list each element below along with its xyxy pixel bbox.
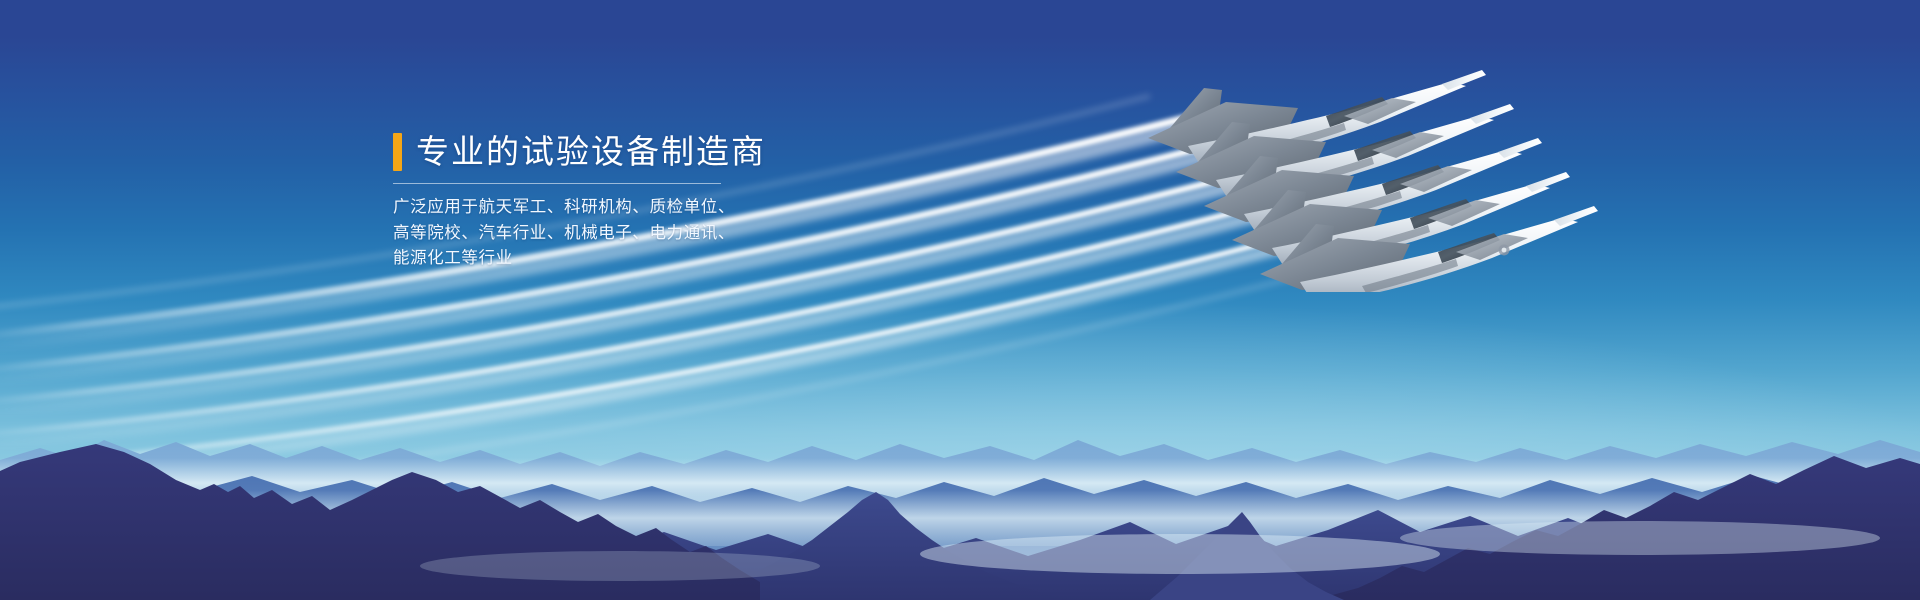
mist-band <box>0 458 1920 508</box>
sky-haze-glow <box>0 0 1920 600</box>
headline-row: 专业的试验设备制造商 <box>393 130 1013 174</box>
mountain-layer-near-mid <box>0 510 1920 600</box>
subtext-line: 能源化工等行业 <box>393 246 1013 272</box>
mountain-layer-near-left <box>0 444 800 600</box>
title-divider <box>393 183 721 184</box>
jet-contrail-streaks <box>0 0 1920 600</box>
mountain-layer-far <box>0 440 1920 600</box>
subtext-line: 广泛应用于航天军工、科研机构、质检单位、 <box>393 195 1013 221</box>
banner-copy: 专业的试验设备制造商 广泛应用于航天军工、科研机构、质检单位、 高等院校、汽车行… <box>393 130 1013 272</box>
layered-mountain-silhouettes <box>0 340 1920 600</box>
subtext-line: 高等院校、汽车行业、机械电子、电力通讯、 <box>393 221 1013 247</box>
jet-aircraft <box>1232 172 1570 270</box>
page-title: 专业的试验设备制造商 <box>416 132 766 172</box>
mountain-layer-mid <box>0 472 1920 600</box>
fighter-jet-formation <box>1130 42 1920 292</box>
banner-subtext: 广泛应用于航天军工、科研机构、质检单位、 高等院校、汽车行业、机械电子、电力通讯… <box>393 195 1013 272</box>
mountain-layer-near-center <box>760 492 1066 600</box>
hero-banner: 专业的试验设备制造商 广泛应用于航天军工、科研机构、质检单位、 高等院校、汽车行… <box>0 0 1920 600</box>
mist-pocket <box>1400 521 1880 555</box>
mist-band <box>0 490 1920 546</box>
jet-aircraft <box>1176 104 1514 202</box>
accent-bar-icon <box>393 133 402 171</box>
mountain-layer-near-right <box>1314 456 1920 600</box>
jet-aircraft <box>1204 138 1542 236</box>
mist-pocket <box>420 551 820 581</box>
jet-aircraft <box>1260 206 1598 292</box>
mountain-peak-right <box>1150 512 1344 600</box>
jet-aircraft <box>1148 70 1486 168</box>
mist-pocket <box>920 534 1440 574</box>
